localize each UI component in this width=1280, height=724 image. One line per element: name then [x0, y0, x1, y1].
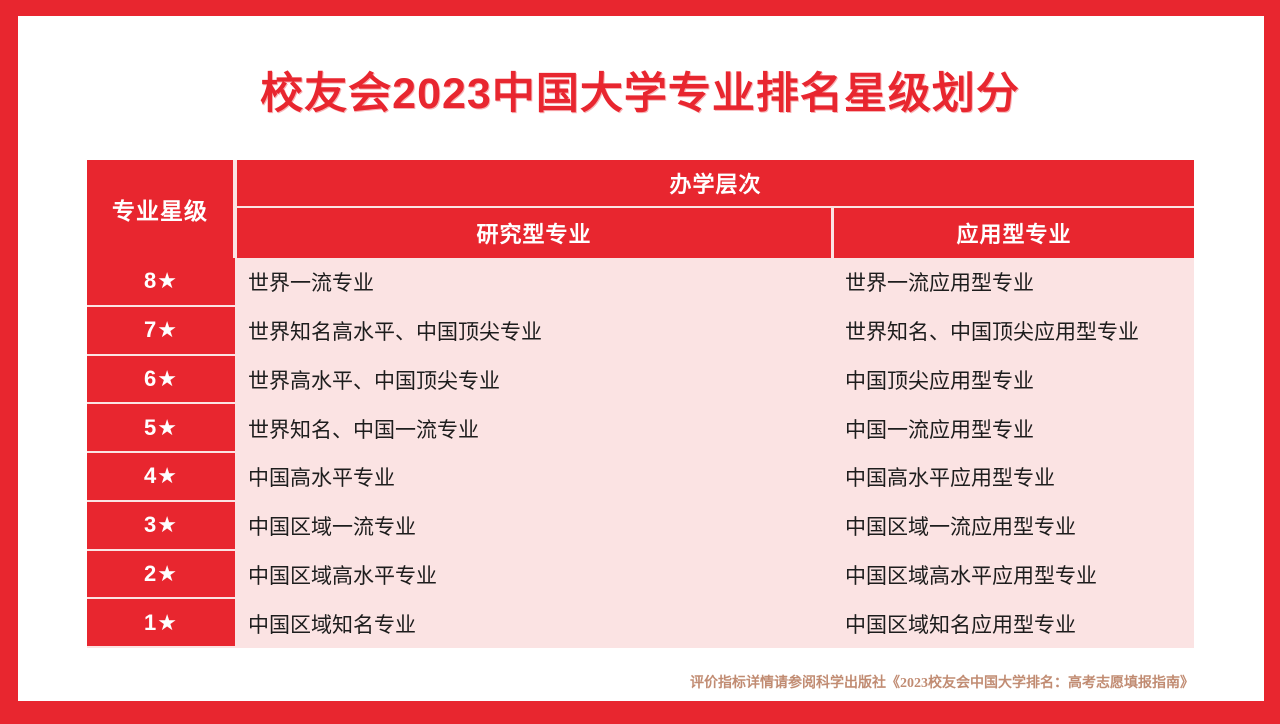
- cell-star-level: 1★: [87, 599, 235, 646]
- table-header: 专业星级 办学层次 研究型专业 应用型专业: [87, 160, 1194, 258]
- cell-research-major: 中国区域高水平专业: [237, 551, 831, 600]
- cell-star-level: 8★: [87, 258, 235, 305]
- table-row: 8★世界一流专业世界一流应用型专业: [87, 258, 1194, 307]
- cell-star-level: 2★: [87, 551, 235, 598]
- frame-border-left: [0, 0, 18, 724]
- table-row: 6★世界高水平、中国顶尖专业中国顶尖应用型专业: [87, 356, 1194, 405]
- cell-star-level: 6★: [87, 356, 235, 403]
- cell-star-level: 4★: [87, 453, 235, 500]
- cell-applied-major: 世界一流应用型专业: [834, 258, 1194, 307]
- cell-research-major: 世界知名、中国一流专业: [237, 404, 831, 453]
- frame-border-bottom: [0, 701, 1280, 724]
- star-rating-table: 专业星级 办学层次 研究型专业 应用型专业 8★世界一流专业世界一流应用型专业7…: [87, 160, 1194, 648]
- header-cell-group-level: 办学层次: [237, 160, 1194, 206]
- frame-border-right: [1264, 0, 1280, 724]
- cell-research-major: 中国区域知名专业: [237, 599, 831, 648]
- cell-applied-major: 中国一流应用型专业: [834, 404, 1194, 453]
- cell-applied-major: 中国区域知名应用型专业: [834, 599, 1194, 648]
- table-row: 3★中国区域一流专业中国区域一流应用型专业: [87, 502, 1194, 551]
- header-cell-research: 研究型专业: [237, 208, 831, 258]
- cell-applied-major: 世界知名、中国顶尖应用型专业: [834, 307, 1194, 356]
- cell-research-major: 中国高水平专业: [237, 453, 831, 502]
- table-row: 5★世界知名、中国一流专业中国一流应用型专业: [87, 404, 1194, 453]
- header-subrow: 研究型专业 应用型专业: [237, 208, 1194, 258]
- cell-star-level: 7★: [87, 307, 235, 354]
- header-cell-applied: 应用型专业: [834, 208, 1194, 258]
- page-title: 校友会2023中国大学专业排名星级划分: [0, 66, 1280, 122]
- header-cell-star-level: 专业星级: [87, 160, 235, 258]
- cell-research-major: 中国区域一流专业: [237, 502, 831, 551]
- cell-research-major: 世界知名高水平、中国顶尖专业: [237, 307, 831, 356]
- cell-research-major: 世界一流专业: [237, 258, 831, 307]
- cell-applied-major: 中国高水平应用型专业: [834, 453, 1194, 502]
- table-row: 4★中国高水平专业中国高水平应用型专业: [87, 453, 1194, 502]
- cell-applied-major: 中国顶尖应用型专业: [834, 356, 1194, 405]
- table-row: 7★世界知名高水平、中国顶尖专业世界知名、中国顶尖应用型专业: [87, 307, 1194, 356]
- table-row: 1★中国区域知名专业中国区域知名应用型专业: [87, 599, 1194, 648]
- cell-research-major: 世界高水平、中国顶尖专业: [237, 356, 831, 405]
- footnote: 评价指标详情请参阅科学出版社《2023校友会中国大学排名：高考志愿填报指南》: [0, 672, 1194, 692]
- cell-star-level: 5★: [87, 404, 235, 451]
- poster-root: 校友会2023中国大学专业排名星级划分 专业星级 办学层次 研究型专业 应用型专…: [0, 0, 1280, 724]
- cell-applied-major: 中国区域高水平应用型专业: [834, 551, 1194, 600]
- cell-star-level: 3★: [87, 502, 235, 549]
- cell-applied-major: 中国区域一流应用型专业: [834, 502, 1194, 551]
- table-row: 2★中国区域高水平专业中国区域高水平应用型专业: [87, 551, 1194, 600]
- table-body: 8★世界一流专业世界一流应用型专业7★世界知名高水平、中国顶尖专业世界知名、中国…: [87, 258, 1194, 648]
- frame-border-top: [0, 0, 1280, 16]
